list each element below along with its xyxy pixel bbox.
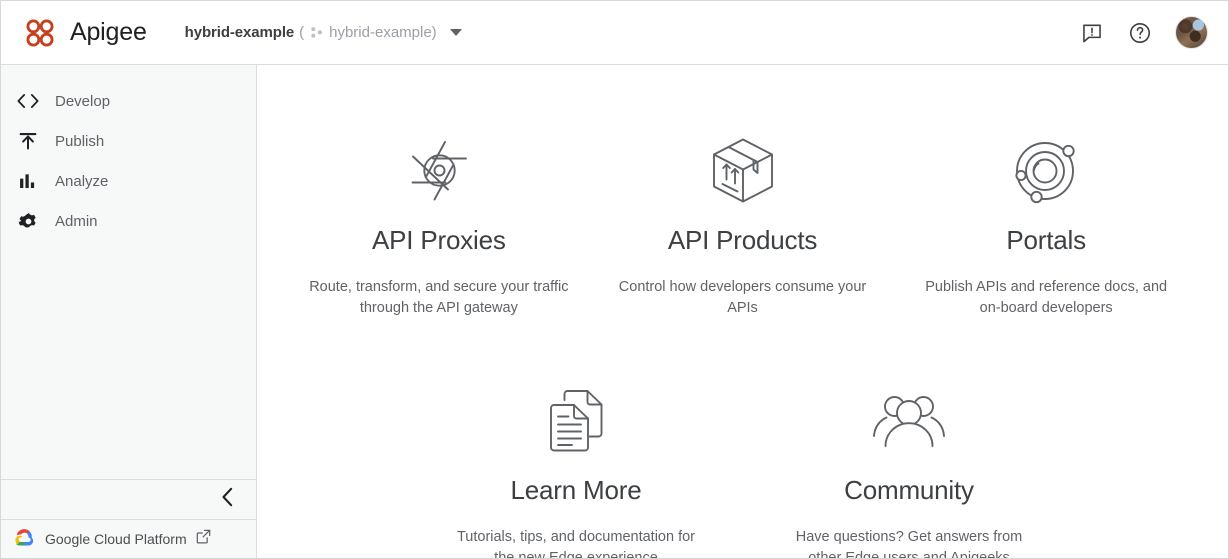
org-name: hybrid-example [185, 24, 294, 41]
card-community[interactable]: Community Have questions? Get answers fr… [743, 385, 1076, 558]
brand-name: Apigee [70, 18, 147, 47]
google-cloud-platform-link[interactable]: Google Cloud Platform [1, 520, 256, 558]
bar-chart-icon [17, 170, 39, 192]
learn-more-documents-icon [543, 385, 609, 457]
org-sub-name: hybrid-example) [329, 24, 437, 41]
external-link-icon [196, 529, 211, 549]
help-circle-icon[interactable] [1127, 20, 1153, 46]
apigee-app-window: Apigee hybrid-example ( hybrid-example) [0, 0, 1229, 559]
upload-arrow-icon [17, 130, 39, 152]
chevron-down-icon[interactable] [450, 29, 462, 36]
sidebar-item-analyze[interactable]: Analyze [1, 161, 256, 201]
api-proxies-aperture-icon [404, 135, 474, 207]
sidebar-nav-list: Develop Publish [1, 65, 256, 479]
card-title: Portals [1006, 225, 1086, 256]
org-project-selector[interactable]: hybrid-example ( hybrid-example) [185, 13, 462, 53]
card-title: API Products [668, 225, 817, 256]
main-content: API Proxies Route, transform, and secure… [257, 65, 1228, 558]
sidebar-item-label: Analyze [55, 173, 108, 190]
google-cloud-logo [15, 528, 36, 551]
card-title: API Proxies [372, 225, 506, 256]
card-description: Tutorials, tips, and documentation for t… [446, 527, 706, 558]
apigee-clover-logo [23, 16, 57, 50]
card-portals[interactable]: Portals Publish APIs and reference docs,… [894, 135, 1198, 319]
sidebar-item-label: Develop [55, 93, 110, 110]
code-brackets-icon [17, 90, 39, 112]
app-header: Apigee hybrid-example ( hybrid-example) [1, 1, 1228, 65]
hybrid-dots-icon [309, 25, 329, 40]
card-row-secondary: Learn More Tutorials, tips, and document… [287, 385, 1198, 558]
user-avatar[interactable] [1175, 16, 1208, 49]
community-people-icon [870, 385, 948, 457]
app-body: Develop Publish [1, 65, 1228, 558]
card-description: Route, transform, and secure your traffi… [309, 277, 569, 319]
sidebar-item-admin[interactable]: Admin [1, 201, 256, 241]
sidebar: Develop Publish [1, 65, 257, 558]
org-paren-open: ( [299, 24, 304, 41]
card-learn-more[interactable]: Learn More Tutorials, tips, and document… [410, 385, 743, 558]
card-description: Have questions? Get answers from other E… [779, 527, 1039, 558]
feedback-icon[interactable] [1079, 20, 1105, 46]
card-title: Learn More [511, 475, 642, 506]
chevron-left-icon [221, 487, 234, 512]
sidebar-item-develop[interactable]: Develop [1, 81, 256, 121]
card-api-products[interactable]: API Products Control how developers cons… [591, 135, 895, 319]
card-description: Publish APIs and reference docs, and on-… [916, 277, 1176, 319]
sidebar-collapse-button[interactable] [1, 479, 256, 520]
brand[interactable]: Apigee [23, 16, 147, 50]
card-description: Control how developers consume your APIs [613, 277, 873, 319]
api-products-box-icon [710, 135, 776, 207]
gcp-label: Google Cloud Platform [45, 531, 187, 547]
card-api-proxies[interactable]: API Proxies Route, transform, and secure… [287, 135, 591, 319]
card-title: Community [844, 475, 974, 506]
sidebar-item-publish[interactable]: Publish [1, 121, 256, 161]
portals-orbit-icon [1011, 135, 1081, 207]
header-actions [1079, 16, 1212, 49]
card-row-primary: API Proxies Route, transform, and secure… [287, 135, 1198, 319]
sidebar-item-label: Admin [55, 213, 98, 230]
sidebar-item-label: Publish [55, 133, 104, 150]
gear-icon [17, 210, 39, 232]
